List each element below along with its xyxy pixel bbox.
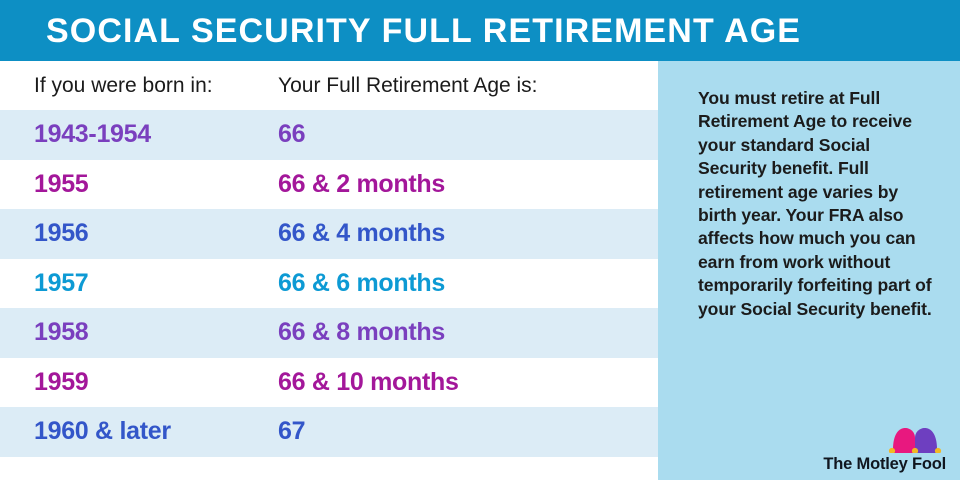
cell-retirement-age: 66 xyxy=(278,122,305,147)
side-note-panel: You must retire at Full Retirement Age t… xyxy=(658,61,960,480)
table-row: 1959 66 & 10 months xyxy=(0,358,658,408)
cell-birth-year: 1957 xyxy=(0,271,278,296)
cell-birth-year: 1960 & later xyxy=(0,419,278,444)
table-row: 1957 66 & 6 months xyxy=(0,259,658,309)
table-header-row: If you were born in: Your Full Retiremen… xyxy=(0,61,658,110)
cell-birth-year: 1943-1954 xyxy=(0,122,278,147)
table-row: 1958 66 & 8 months xyxy=(0,308,658,358)
header-bar: SOCIAL SECURITY FULL RETIREMENT AGE xyxy=(0,0,960,61)
cell-birth-year: 1956 xyxy=(0,221,278,246)
table-row: 1955 66 & 2 months xyxy=(0,160,658,210)
table-row: 1960 & later 67 xyxy=(0,407,658,457)
cell-birth-year: 1955 xyxy=(0,172,278,197)
cell-retirement-age: 66 & 6 months xyxy=(278,271,445,296)
cell-retirement-age: 66 & 2 months xyxy=(278,172,445,197)
retirement-age-table: If you were born in: Your Full Retiremen… xyxy=(0,61,658,480)
page-title: SOCIAL SECURITY FULL RETIREMENT AGE xyxy=(0,14,801,48)
logo-text: The Motley Fool xyxy=(823,456,946,473)
cell-birth-year: 1958 xyxy=(0,320,278,345)
column-header-birth-year: If you were born in: xyxy=(0,75,278,96)
cell-retirement-age: 66 & 8 months xyxy=(278,320,445,345)
column-header-retirement-age: Your Full Retirement Age is: xyxy=(278,75,538,96)
side-note-text: You must retire at Full Retirement Age t… xyxy=(698,87,938,321)
cell-birth-year: 1959 xyxy=(0,370,278,395)
jester-hat-icon xyxy=(886,427,944,453)
cell-retirement-age: 66 & 4 months xyxy=(278,221,445,246)
table-row: 1943-1954 66 xyxy=(0,110,658,160)
table-row: 1956 66 & 4 months xyxy=(0,209,658,259)
motley-fool-logo: The Motley Fool xyxy=(823,456,946,473)
infographic-root: SOCIAL SECURITY FULL RETIREMENT AGE If y… xyxy=(0,0,960,480)
cell-retirement-age: 66 & 10 months xyxy=(278,370,459,395)
cell-retirement-age: 67 xyxy=(278,419,305,444)
